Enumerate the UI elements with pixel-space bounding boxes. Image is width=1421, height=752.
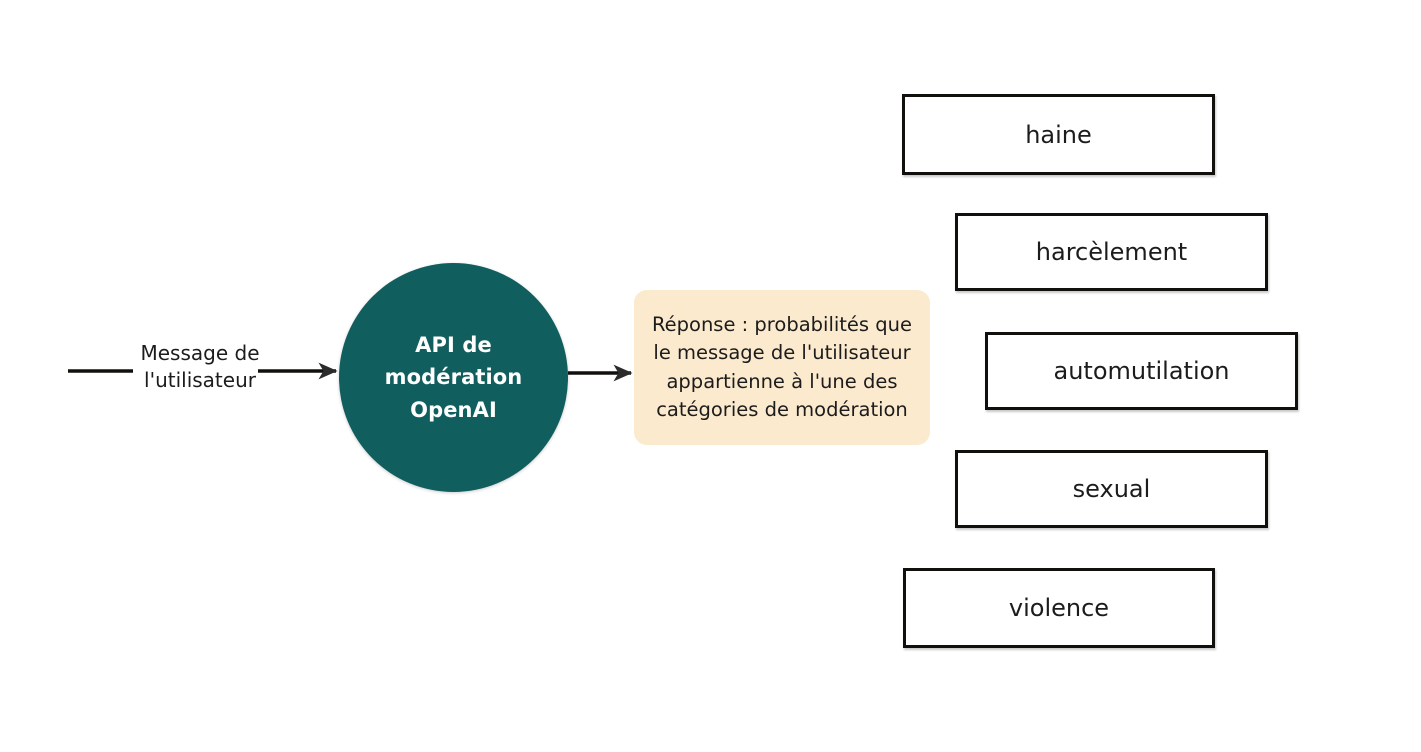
- input-message-label-line1: Message de: [120, 340, 280, 367]
- api-node-line1: API de: [415, 329, 492, 362]
- category-label: automutilation: [1053, 359, 1229, 383]
- category-label: sexual: [1073, 477, 1151, 501]
- response-line3: appartienne à l'une des: [652, 368, 912, 396]
- response-line4: catégories de modération: [652, 396, 912, 424]
- input-message-label: Message de l'utilisateur: [120, 340, 280, 394]
- category-box-violence[interactable]: violence: [903, 568, 1215, 648]
- category-label: harcèlement: [1036, 240, 1187, 264]
- response-callout[interactable]: Réponse : probabilités que le message de…: [634, 290, 930, 445]
- category-box-haine[interactable]: haine: [902, 94, 1215, 175]
- response-line1: Réponse : probabilités que: [652, 311, 912, 339]
- api-node-line3: OpenAI: [410, 394, 497, 427]
- openai-moderation-api-node[interactable]: API de modération OpenAI: [339, 263, 568, 492]
- diagram-canvas: Message de l'utilisateur API de modérati…: [0, 0, 1421, 752]
- response-callout-text: Réponse : probabilités que le message de…: [652, 311, 912, 424]
- category-box-harcelement[interactable]: harcèlement: [955, 213, 1268, 291]
- category-label: violence: [1009, 596, 1109, 620]
- category-box-sexual[interactable]: sexual: [955, 450, 1268, 528]
- category-label: haine: [1025, 123, 1092, 147]
- response-line2: le message de l'utilisateur: [652, 339, 912, 367]
- category-box-automutilation[interactable]: automutilation: [985, 332, 1298, 410]
- input-message-label-line2: l'utilisateur: [120, 367, 280, 394]
- api-node-line2: modération: [385, 361, 523, 394]
